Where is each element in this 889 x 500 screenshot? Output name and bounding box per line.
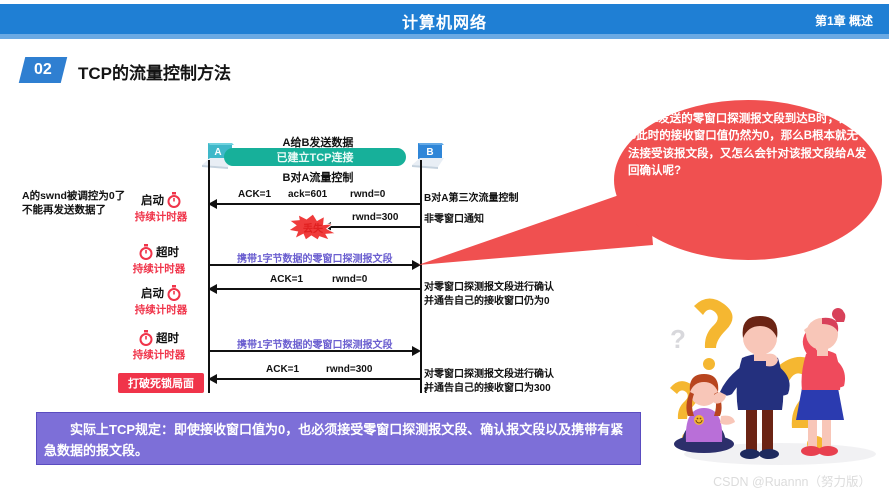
section-number-badge: 02 — [19, 57, 67, 83]
timer-start-1: 启动 持续计时器 — [122, 192, 200, 224]
msg-2-field-rwnd: rwnd=300 — [352, 212, 398, 223]
timer-timeout-2-word: 超时 — [156, 330, 179, 346]
svg-text:B: B — [426, 147, 433, 158]
page-title: 计算机网络 — [0, 9, 889, 33]
timer-start-1-sub: 持续计时器 — [135, 209, 188, 224]
people-illustration: ? — [668, 296, 888, 472]
msg-4-field-ack-flag: ACK=1 — [270, 274, 303, 285]
timer-timeout-1-word: 超时 — [156, 244, 179, 260]
msg-6-field-ack-flag: ACK=1 — [266, 364, 299, 375]
timer-start-2-top: 启动 — [141, 285, 181, 301]
msg-1-line — [216, 203, 420, 205]
watermark-text: CSDN @Ruannn（努力版） — [713, 471, 871, 490]
stopwatch-icon — [139, 330, 153, 346]
left-note-swnd: A的swnd被调控为0了 不能再发送数据了 — [22, 189, 125, 217]
section-number-text: 02 — [34, 61, 52, 79]
left-note-line-1: A的swnd被调控为0了 — [22, 189, 125, 203]
msg-5-probe-label: 携带1字节数据的零窗口探测报文段 — [237, 336, 393, 351]
msg-1-field-rwnd: rwnd=0 — [350, 189, 385, 200]
timer-start-1-word: 启动 — [141, 192, 164, 208]
right-note-ack-probe-2: 对零窗口探测报文段进行确认 — [424, 368, 554, 382]
timer-timeout-1-sub: 持续计时器 — [133, 261, 186, 276]
msg-1-field-ack-num: ack=601 — [288, 189, 327, 200]
timer-timeout-2: 超时 持续计时器 — [118, 330, 200, 362]
section-title: TCP的流量控制方法 — [78, 59, 231, 84]
deadlock-break-badge: 打破死锁局面 — [118, 373, 204, 393]
timer-start-2: 启动 持续计时器 — [122, 285, 200, 317]
tcp-connection-bar: 已建立TCP连接 — [224, 148, 406, 166]
svg-text:?: ? — [670, 324, 686, 354]
svg-text:A: A — [214, 147, 221, 158]
msg-4-field-rwnd: rwnd=0 — [332, 274, 367, 285]
tcp-connection-label: 已建立TCP连接 — [277, 149, 354, 165]
msg-6-field-rwnd: rwnd=300 — [326, 364, 372, 375]
footer-note-text: 实际上TCP规定：即使接收窗口值为0，也必须接受零窗口探测报文段、确认报文段以及… — [44, 420, 636, 462]
header-underline-strip — [0, 34, 889, 39]
host-b-laptop-icon: B — [412, 141, 446, 167]
top-note-flow-control: B对A流量控制 — [238, 169, 398, 185]
right-note-window-300: 并通告自己的接收窗口为300 — [424, 382, 551, 396]
left-note-line-2: 不能再发送数据了 — [22, 203, 125, 217]
msg-6-line — [216, 378, 420, 380]
timer-timeout-1: 超时 持续计时器 — [118, 244, 200, 276]
msg-4-line — [216, 288, 420, 290]
timer-timeout-2-top: 超时 — [139, 330, 179, 346]
chapter-label: 第1章 概述 — [815, 12, 873, 29]
msg-4-arrowhead — [208, 284, 217, 294]
stopwatch-icon — [167, 285, 181, 301]
callout-text: A发送的零窗口探测报文段到达B时，如果B此时的接收窗口值仍然为0，那么B根本就无… — [628, 111, 868, 181]
timer-start-1-top: 启动 — [141, 192, 181, 208]
msg-5-arrowhead — [412, 346, 421, 356]
right-note-window-still-zero: 并通告自己的接收窗口仍为0 — [424, 295, 550, 309]
packet-lost-label: 丢失 — [288, 220, 338, 235]
msg-6-arrowhead — [208, 374, 217, 384]
timer-timeout-2-sub: 持续计时器 — [133, 347, 186, 362]
stopwatch-icon — [139, 244, 153, 260]
timer-start-2-word: 启动 — [141, 285, 164, 301]
msg-2-line — [330, 226, 420, 228]
timer-start-2-sub: 持续计时器 — [135, 302, 188, 317]
msg-1-field-ack-flag: ACK=1 — [238, 189, 271, 200]
timer-timeout-1-top: 超时 — [139, 244, 179, 260]
right-note-ack-probe-1: 对零窗口探测报文段进行确认 — [424, 281, 554, 295]
slide-canvas: 计算机网络 第1章 概述 02 TCP的流量控制方法 A B A给B发送数据 已… — [0, 0, 889, 500]
host-a-timeline — [208, 160, 210, 393]
msg-3-probe-label: 携带1字节数据的零窗口探测报文段 — [237, 250, 393, 265]
stopwatch-icon — [167, 192, 181, 208]
msg-1-arrowhead — [208, 199, 217, 209]
